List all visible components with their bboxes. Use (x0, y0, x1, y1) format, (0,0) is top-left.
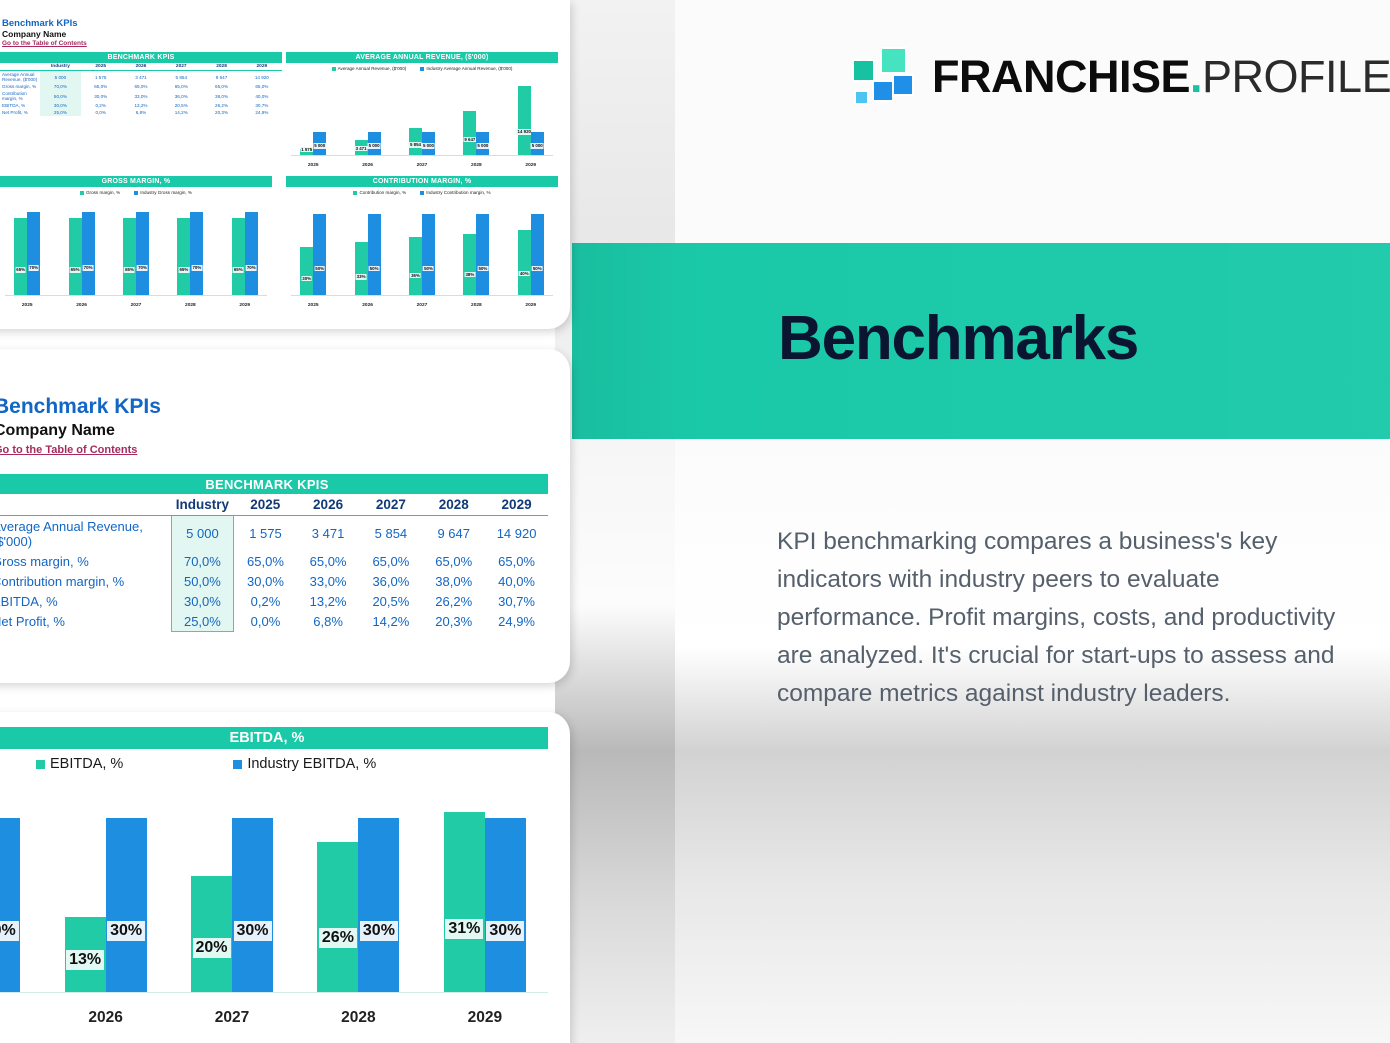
kpi-cell-2027: 14,2% (359, 611, 422, 632)
kpi-table: Industry20252026202720282029 Average Ann… (0, 495, 548, 632)
kpi-cell-2025: 0,0% (81, 109, 121, 116)
bar-2025-company: 65% (14, 218, 27, 296)
mini-chart-gross-margin-legend: Gross margin, %Industry Gross margin, % (0, 187, 272, 195)
bar-2029-company: 40% (518, 230, 531, 296)
ebitda-bar-2029-company: 31% (444, 812, 485, 993)
kpi-col-2025: 2025 (81, 63, 121, 71)
kpi-col-2027: 2027 (161, 63, 201, 71)
mini-chart-gross-margin: GROSS MARGIN, % Gross margin, %Industry … (0, 176, 272, 310)
legend-label: Industry Average Annual Revenue, ($'000) (426, 66, 512, 71)
kpi-row-label: Average Annual Revenue, ($'000) (0, 516, 171, 552)
bar-value-label: 40% (519, 271, 530, 277)
ebitda-bar-value-label: 31% (445, 919, 483, 939)
bar-group-2027: 5 8545 000 (409, 74, 435, 156)
mini-chart-gross-margin-bars: 65%70%65%70%65%70%65%70%65%70% (0, 198, 272, 296)
kpi-row-label: EBITDA, % (0, 102, 40, 109)
ebitda-bar-2026-company: 13% (65, 917, 106, 993)
kpi-col-2029: 2029 (485, 495, 548, 516)
bar-2027-industry: 50% (422, 214, 435, 296)
mini-chart-contribution-margin-xlabels: 20252026202720282029 (286, 303, 558, 308)
bar-value-label: 65% (178, 267, 189, 273)
ebitda-bar-2027-industry: 30% (232, 818, 273, 993)
mini-chart-revenue-bars: 1 5755 0003 4715 0005 8545 0009 6475 000… (286, 74, 558, 156)
ebitda-chart-legend: EBITDA, % Industry EBITDA, % (0, 756, 406, 772)
kpi-table-header-band: BENCHMARK KPIS (0, 474, 548, 494)
table-row: Average Annual Revenue, ($'000)5 0001 57… (0, 71, 282, 84)
kpi-cell-2028: 65,0% (201, 83, 241, 90)
x-axis-label-2027: 2027 (417, 163, 428, 168)
logo-wordmark: FRANCHISE.PROFILES (932, 54, 1390, 99)
kpi-cell-industry: 70,0% (171, 551, 234, 571)
kpi-cell-2028: 65,0% (422, 551, 485, 571)
ebitda-x-axis-label-2028: 2028 (295, 1009, 421, 1027)
table-row: Net Profit, %25,0%0,0%6,8%14,2%20,3%24,9… (0, 109, 282, 116)
kpi-cell-2029: 24,9% (242, 109, 282, 116)
kpi-cell-industry: 30,0% (171, 591, 234, 611)
bar-group-2029: 14 9205 000 (518, 74, 544, 156)
mini-chart-revenue-xlabels: 20252026202720282029 (286, 163, 558, 168)
kpi-row-label: Gross margin, % (0, 83, 40, 90)
kpi-cell-2028: 20,3% (201, 109, 241, 116)
brand-logo: FRANCHISE.PROFILES (852, 44, 1390, 108)
bar-value-label: 65% (70, 267, 81, 273)
bar-value-label: 50% (369, 266, 380, 272)
kpi-cell-2027: 36,0% (359, 571, 422, 591)
bar-group-2029: 40%50% (518, 198, 544, 296)
bar-value-label: 50% (314, 266, 325, 272)
mini-chart-contribution-margin-title: CONTRIBUTION MARGIN, % (286, 176, 558, 187)
bar-2025-industry: 50% (313, 214, 326, 296)
bar-group-2026: 65%70% (69, 198, 95, 296)
x-axis-label-2025: 2025 (308, 303, 319, 308)
mini-toc-link[interactable]: Go to the Table of Contents (2, 40, 87, 47)
kpi-cell-2029: 65,0% (485, 551, 548, 571)
kpi-col-label (0, 63, 40, 71)
kpi-cell-2025: 0,2% (81, 102, 121, 109)
bar-value-label: 70% (28, 265, 39, 271)
bar-2026-company: 3 471 (355, 140, 368, 156)
legend-label: Contribution margin, % (359, 190, 406, 195)
ebitda-chart-title: EBITDA, % (0, 727, 548, 749)
bar-2028-company: 9 647 (463, 111, 476, 156)
bar-2028-company: 65% (177, 218, 190, 296)
kpi-row-label: Net Profit, % (0, 109, 40, 116)
x-axis-label-2025: 2025 (308, 163, 319, 168)
bar-2028-industry: 70% (190, 212, 203, 296)
kpi-col-2026: 2026 (121, 63, 161, 71)
kpi-table-head-row: Industry20252026202720282029 (0, 495, 548, 516)
bar-value-label: 65% (124, 267, 135, 273)
kpi-table-body: Average Annual Revenue, ($'000)5 0001 57… (0, 516, 548, 632)
mini-chart-revenue: AVERAGE ANNUAL REVENUE, ($'000) Average … (286, 52, 558, 170)
legend-item-0: Average Annual Revenue, ($'000) (332, 66, 407, 71)
bar-value-label: 5 000 (476, 143, 489, 149)
kpi-col-2028: 2028 (201, 63, 241, 71)
kpi-cell-industry: 5 000 (40, 71, 80, 84)
x-axis-label-2029: 2029 (525, 163, 536, 168)
background-column-left (555, 0, 675, 1043)
logo-word-profiles: PROFILES (1202, 51, 1390, 102)
legend-item-0: Gross margin, % (80, 190, 120, 195)
x-axis-label-2029: 2029 (239, 303, 250, 308)
bar-value-label: 33% (356, 274, 367, 280)
kpi-cell-2026: 13,2% (297, 591, 360, 611)
bar-2027-industry: 70% (136, 212, 149, 296)
x-axis-label-2028: 2028 (471, 303, 482, 308)
ebitda-bar-2026-industry: 30% (106, 818, 147, 993)
legend-item-0: Contribution margin, % (353, 190, 406, 195)
kpi-cell-2028: 38,0% (422, 571, 485, 591)
bar-2029-industry: 70% (245, 212, 258, 296)
bar-value-label: 3 471 (355, 146, 368, 152)
mini-chart-contribution-margin-plot: 30%50%33%50%36%50%38%50%40%50% 202520262… (286, 198, 558, 310)
ebitda-bar-value-label: 30% (107, 921, 145, 941)
bar-value-label: 50% (423, 266, 434, 272)
kpi-col-label (0, 495, 171, 516)
ebitda-bar-group-2025: 0%30% (0, 780, 42, 993)
bar-2025-industry: 5 000 (313, 132, 326, 156)
kpi-cell-2027: 20,5% (161, 102, 201, 109)
kpi-col-Industry: Industry (40, 63, 80, 71)
ebitda-bar-value-label: 20% (193, 938, 231, 958)
bar-2025-industry: 70% (27, 212, 40, 296)
bar-value-label: 38% (464, 272, 475, 278)
mini-chart-gross-margin-plot: 65%70%65%70%65%70%65%70%65%70% 202520262… (0, 198, 272, 310)
bar-2027-company: 5 854 (409, 128, 422, 156)
ebitda-chart-plot: 0%30%13%30%20%30%26%30%31%30% 2025202620… (0, 780, 548, 1035)
kpi-col-2029: 2029 (242, 63, 282, 71)
bar-value-label: 50% (477, 266, 488, 272)
ebitda-x-axis-label-2026: 2026 (42, 1009, 168, 1027)
bar-value-label: 50% (532, 266, 543, 272)
kpi-cell-2027: 14,2% (161, 109, 201, 116)
screenshot-card-kpi-table[interactable]: Benchmark KPIs Company Name Go to the Ta… (0, 349, 570, 683)
kpi-cell-2025: 65,0% (81, 83, 121, 90)
bar-value-label: 5 000 (368, 143, 381, 149)
legend-swatch-blue (233, 760, 242, 769)
bar-value-label: 5 854 (409, 142, 422, 148)
mini-chart-contribution-margin-axis (291, 295, 552, 296)
kpi-cell-2027: 65,0% (161, 83, 201, 90)
company-name: Company Name (0, 422, 115, 440)
kpi-row-label: Contribution margin, % (0, 571, 171, 591)
kpi-row-label: Average Annual Revenue, ($'000) (0, 71, 40, 84)
ebitda-legend-item-industry: Industry EBITDA, % (233, 756, 376, 772)
kpi-cell-2027: 65,0% (359, 551, 422, 571)
ebitda-bar-2027-company: 20% (191, 876, 232, 993)
table-row: Contribution margin, %50,0%30,0%33,0%36,… (0, 571, 548, 591)
bar-value-label: 70% (137, 265, 148, 271)
x-axis-label-2028: 2028 (471, 163, 482, 168)
legend-item-1: Industry Average Annual Revenue, ($'000) (420, 66, 512, 71)
mini-chart-gross-margin-axis (5, 295, 266, 296)
bar-group-2028: 9 6475 000 (463, 74, 489, 156)
bar-value-label: 36% (410, 273, 421, 279)
mini-chart-contribution-margin-legend: Contribution margin, %Industry Contribut… (286, 187, 558, 195)
kpi-cell-2026: 6,8% (121, 109, 161, 116)
bar-group-2027: 65%70% (123, 198, 149, 296)
kpi-col-2025: 2025 (234, 495, 297, 516)
ebitda-x-axis-label-2025: 2025 (0, 1009, 42, 1027)
kpi-row-label: Net Profit, % (0, 611, 171, 632)
ebitda-legend-label-industry: Industry EBITDA, % (247, 756, 376, 772)
x-axis-label-2026: 2026 (362, 303, 373, 308)
kpi-col-Industry: Industry (171, 495, 234, 516)
mini-chart-contribution-margin: CONTRIBUTION MARGIN, % Contribution marg… (286, 176, 558, 310)
table-row: EBITDA, %30,0%0,2%13,2%20,5%26,2%30,7% (0, 102, 282, 109)
ebitda-bar-value-label: 13% (66, 950, 104, 970)
ebitda-bar-value-label: 30% (360, 921, 398, 941)
bar-group-2027: 36%50% (409, 198, 435, 296)
kpi-cell-2026: 65,0% (121, 83, 161, 90)
logo-square-teal-dark (852, 59, 875, 82)
logo-squares-icon (852, 47, 914, 105)
kpi-cell-2025: 65,0% (234, 551, 297, 571)
background-top-panel (675, 0, 1390, 243)
bar-value-label: 5 000 (313, 143, 326, 149)
logo-word-franchise: FRANCHISE (932, 51, 1190, 102)
mini-kpi-table-head-row: Industry20252026202720282029 (0, 63, 282, 71)
bar-value-label: 5 000 (422, 143, 435, 149)
ebitda-bar-2025-industry: 30% (0, 818, 20, 993)
kpi-cell-2029: 14 920 (485, 516, 548, 552)
bar-value-label: 70% (246, 265, 257, 271)
kpi-cell-2025: 30,0% (81, 90, 121, 102)
table-row: Net Profit, %25,0%0,0%6,8%14,2%20,3%24,9… (0, 611, 548, 632)
kpi-cell-2028: 26,2% (422, 591, 485, 611)
bar-value-label: 1 575 (300, 147, 313, 153)
ebitda-bar-value-label: 30% (486, 921, 524, 941)
ebitda-chart-axis (0, 992, 548, 993)
kpi-cell-industry: 25,0% (40, 109, 80, 116)
x-axis-label-2029: 2029 (525, 303, 536, 308)
bar-group-2029: 65%70% (232, 198, 258, 296)
legend-label: Industry Contribution margin, % (426, 190, 490, 195)
kpi-row-label: Contribution margin, % (0, 90, 40, 102)
legend-label: Average Annual Revenue, ($'000) (338, 66, 407, 71)
kpi-cell-2028: 9 647 (201, 71, 241, 84)
mini-chart-contribution-margin-bars: 30%50%33%50%36%50%38%50%40%50% (286, 198, 558, 296)
ebitda-bar-value-label: 26% (319, 928, 357, 948)
bar-value-label: 14 920 (517, 129, 532, 135)
kpi-cell-2028: 9 647 (422, 516, 485, 552)
bar-2027-company: 65% (123, 218, 136, 296)
bar-2026-industry: 70% (82, 212, 95, 296)
x-axis-label-2027: 2027 (131, 303, 142, 308)
bar-group-2025: 1 5755 000 (300, 74, 326, 156)
x-axis-label-2027: 2027 (417, 303, 428, 308)
kpi-cell-industry: 50,0% (171, 571, 234, 591)
ebitda-bar-group-2027: 20%30% (169, 780, 295, 993)
mini-kpi-table-header: BENCHMARK KPIS (0, 52, 282, 63)
bar-value-label: 70% (83, 265, 94, 271)
kpi-cell-industry: 30,0% (40, 102, 80, 109)
kpi-cell-2025: 1 575 (81, 71, 121, 84)
kpi-cell-2025: 0,0% (234, 611, 297, 632)
ebitda-bar-value-label: 30% (0, 921, 19, 941)
table-row: Gross margin, %70,0%65,0%65,0%65,0%65,0%… (0, 551, 548, 571)
kpi-cell-2027: 36,0% (161, 90, 201, 102)
kpi-cell-industry: 5 000 (171, 516, 234, 552)
kpi-cell-2027: 5 854 (359, 516, 422, 552)
kpi-cell-2026: 33,0% (121, 90, 161, 102)
kpi-cell-2027: 5 854 (161, 71, 201, 84)
slide-canvas: FRANCHISE.PROFILES Benchmarks KPI benchm… (0, 0, 1390, 1043)
bar-2028-industry: 5 000 (476, 132, 489, 156)
kpi-cell-2026: 6,8% (297, 611, 360, 632)
kpi-row-label: EBITDA, % (0, 591, 171, 611)
toc-link[interactable]: Go to the Table of Contents (0, 444, 137, 456)
ebitda-bar-value-label: 30% (234, 921, 272, 941)
bar-2026-industry: 50% (368, 214, 381, 296)
mini-chart-revenue-legend: Average Annual Revenue, ($'000)Industry … (286, 63, 558, 71)
sheet-title: Benchmark KPIs (0, 395, 161, 419)
table-row: EBITDA, %30,0%0,2%13,2%20,5%26,2%30,7% (0, 591, 548, 611)
x-axis-label-2028: 2028 (185, 303, 196, 308)
bar-group-2026: 33%50% (355, 198, 381, 296)
kpi-cell-2029: 40,0% (242, 90, 282, 102)
ebitda-legend-label-company: EBITDA, % (50, 756, 123, 772)
kpi-cell-2025: 1 575 (234, 516, 297, 552)
kpi-cell-industry: 50,0% (40, 90, 80, 102)
logo-square-blue-right (892, 74, 914, 96)
bar-value-label: 5 000 (531, 143, 544, 149)
mini-chart-revenue-axis (291, 155, 552, 156)
ebitda-x-axis-label-2029: 2029 (422, 1009, 548, 1027)
bar-2026-industry: 5 000 (368, 132, 381, 156)
x-axis-label-2025: 2025 (22, 303, 33, 308)
ebitda-bar-group-2026: 13%30% (42, 780, 168, 993)
ebitda-chart-bars: 0%30%13%30%20%30%26%30%31%30% (0, 780, 548, 993)
bar-group-2025: 30%50% (300, 198, 326, 296)
bar-2029-company: 65% (232, 218, 245, 296)
kpi-col-2027: 2027 (359, 495, 422, 516)
screenshot-card-ebitda-chart[interactable]: EBITDA, % EBITDA, % Industry EBITDA, % 0… (0, 712, 570, 1043)
kpi-cell-2029: 40,0% (485, 571, 548, 591)
bar-2028-industry: 50% (476, 214, 489, 296)
bar-value-label: 9 647 (463, 137, 476, 143)
logo-square-teal-light (880, 47, 907, 74)
table-row: Contribution margin, %50,0%30,0%33,0%36,… (0, 90, 282, 102)
logo-square-blue-center (872, 80, 894, 102)
mini-kpi-table-body: Average Annual Revenue, ($'000)5 0001 57… (0, 71, 282, 117)
bar-value-label: 65% (15, 267, 26, 273)
ebitda-chart-xlabels: 20252026202720282029 (0, 1009, 548, 1027)
bar-value-label: 65% (233, 267, 244, 273)
mini-chart-revenue-title: AVERAGE ANNUAL REVENUE, ($'000) (286, 52, 558, 63)
bar-2028-company: 38% (463, 234, 476, 296)
kpi-cell-2029: 65,0% (242, 83, 282, 90)
bar-2029-company: 14 920 (518, 86, 531, 156)
logo-dot: . (1190, 51, 1202, 102)
ebitda-bar-2029-industry: 30% (485, 818, 526, 993)
legend-label: Gross margin, % (86, 190, 120, 195)
mini-kpi-table-panel: BENCHMARK KPIS Industry20252026202720282… (0, 52, 282, 116)
mini-chart-gross-margin-title: GROSS MARGIN, % (0, 176, 272, 187)
bar-value-label: 70% (191, 265, 202, 271)
bar-group-2028: 38%50% (463, 198, 489, 296)
ebitda-x-axis-label-2027: 2027 (169, 1009, 295, 1027)
kpi-cell-2026: 3 471 (297, 516, 360, 552)
bar-2026-company: 33% (355, 242, 368, 296)
legend-swatch-teal (36, 760, 45, 769)
hero-description: KPI benchmarking compares a business's k… (777, 523, 1357, 713)
kpi-row-label: Gross margin, % (0, 551, 171, 571)
kpi-cell-2026: 13,2% (121, 102, 161, 109)
ebitda-bar-group-2029: 31%30% (422, 780, 548, 993)
kpi-cell-2028: 38,0% (201, 90, 241, 102)
bar-2027-company: 36% (409, 237, 422, 296)
bar-group-2025: 65%70% (14, 198, 40, 296)
kpi-cell-2029: 30,7% (242, 102, 282, 109)
mini-chart-revenue-plot: 1 5755 0003 4715 0005 8545 0009 6475 000… (286, 74, 558, 170)
kpi-cell-2026: 65,0% (297, 551, 360, 571)
bar-2029-industry: 50% (531, 214, 544, 296)
mini-sheet-title: Benchmark KPIs (2, 18, 78, 29)
bar-value-label: 30% (301, 276, 312, 282)
screenshot-card-dashboard[interactable]: Benchmark KPIs Company Name Go to the Ta… (0, 0, 570, 329)
kpi-col-2026: 2026 (297, 495, 360, 516)
ebitda-bar-2028-company: 26% (317, 842, 358, 993)
table-row: Average Annual Revenue, ($'000)5 0001 57… (0, 516, 548, 552)
bar-2027-industry: 5 000 (422, 132, 435, 156)
mini-company-name: Company Name (2, 29, 66, 39)
mini-kpi-table: Industry20252026202720282029 Average Ann… (0, 63, 282, 116)
page-title: Benchmarks (778, 308, 1138, 370)
logo-square-cyan-small (854, 90, 869, 105)
kpi-cell-2027: 20,5% (359, 591, 422, 611)
kpi-cell-2028: 26,2% (201, 102, 241, 109)
kpi-cell-industry: 25,0% (171, 611, 234, 632)
kpi-cell-2025: 30,0% (234, 571, 297, 591)
bar-2029-industry: 5 000 (531, 132, 544, 156)
ebitda-legend-item-company: EBITDA, % (36, 756, 123, 772)
kpi-col-2028: 2028 (422, 495, 485, 516)
kpi-cell-2029: 24,9% (485, 611, 548, 632)
kpi-cell-2026: 3 471 (121, 71, 161, 84)
bar-group-2028: 65%70% (177, 198, 203, 296)
table-row: Gross margin, %70,0%65,0%65,0%65,0%65,0%… (0, 83, 282, 90)
kpi-cell-2029: 30,7% (485, 591, 548, 611)
x-axis-label-2026: 2026 (362, 163, 373, 168)
mini-chart-gross-margin-xlabels: 20252026202720282029 (0, 303, 272, 308)
kpi-cell-2028: 20,3% (422, 611, 485, 632)
bar-2025-company: 30% (300, 247, 313, 296)
kpi-cell-2025: 0,2% (234, 591, 297, 611)
bar-group-2026: 3 4715 000 (355, 74, 381, 156)
bar-2026-company: 65% (69, 218, 82, 296)
ebitda-bar-2028-industry: 30% (358, 818, 399, 993)
legend-label: Industry Gross margin, % (140, 190, 192, 195)
kpi-cell-industry: 70,0% (40, 83, 80, 90)
kpi-cell-2026: 33,0% (297, 571, 360, 591)
x-axis-label-2026: 2026 (76, 303, 87, 308)
legend-item-1: Industry Gross margin, % (134, 190, 192, 195)
kpi-cell-2029: 14 920 (242, 71, 282, 84)
legend-item-1: Industry Contribution margin, % (420, 190, 490, 195)
ebitda-bar-group-2028: 26%30% (295, 780, 421, 993)
